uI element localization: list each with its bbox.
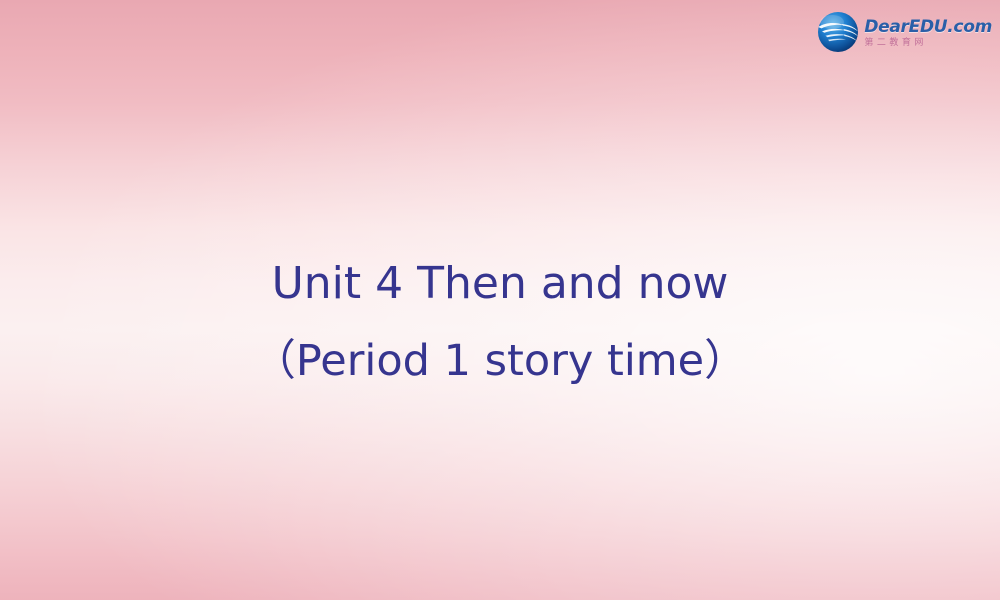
dearedu-logo: DearEDU.com 第二教育网 — [816, 10, 992, 54]
globe-swoosh-icon — [816, 10, 860, 54]
slide-canvas: DearEDU.com 第二教育网 Unit 4 Then and now （P… — [0, 0, 1000, 600]
logo-subtitle: 第二教育网 — [864, 39, 927, 48]
slide-title-block: Unit 4 Then and now （Period 1 story time… — [0, 262, 1000, 383]
page-title: Unit 4 Then and now — [0, 262, 1000, 306]
logo-text-group: DearEDU.com 第二教育网 — [864, 17, 992, 48]
page-subtitle: （Period 1 story time） — [0, 340, 1000, 383]
logo-brand-name: DearEDU.com — [864, 19, 992, 36]
